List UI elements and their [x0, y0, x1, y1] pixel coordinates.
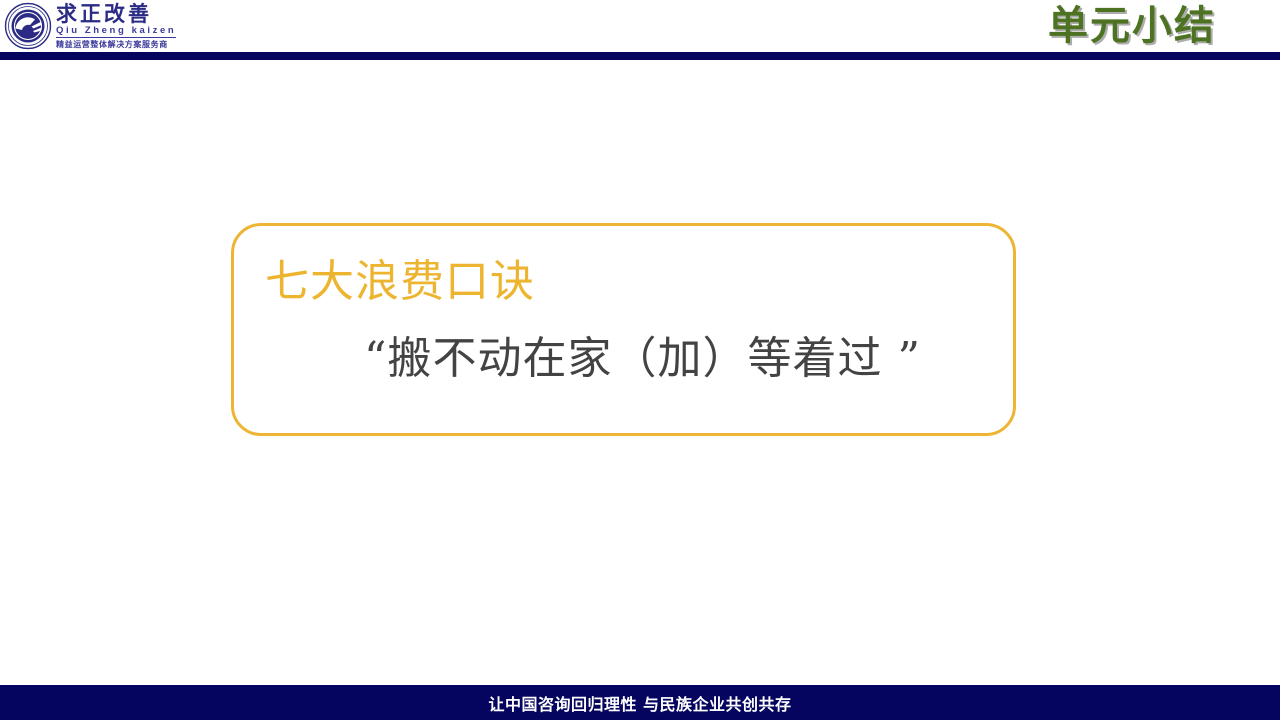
brand-logo[interactable]: 求正改善 Qiu Zheng kaizen 精益运营整体解决方案服务商 — [4, 1, 200, 51]
header-divider — [0, 52, 1280, 60]
footer-band: 让中国咨询回归理性 与民族企业共创共存 — [0, 685, 1280, 720]
mnemonic-card: 七大浪费口诀 “搬不动在家（加）等着过 ” — [231, 223, 1016, 436]
card-heading: 七大浪费口诀 — [265, 258, 535, 306]
footer-slogan: 让中国咨询回归理性 与民族企业共创共存 — [488, 691, 791, 715]
logo-pinyin: Qiu Zheng kaizen — [56, 25, 176, 39]
logo-chinese-name: 求正改善 — [56, 3, 176, 25]
slide-canvas: 求正改善 Qiu Zheng kaizen 精益运营整体解决方案服务商 单元小结… — [0, 0, 1280, 720]
logo-tagline: 精益运营整体解决方案服务商 — [56, 39, 176, 51]
qiu-zheng-kaizen-seal-icon — [4, 2, 52, 50]
page-title: 单元小结 — [1048, 2, 1216, 50]
logo-wordmark: 求正改善 Qiu Zheng kaizen 精益运营整体解决方案服务商 — [56, 1, 176, 52]
card-mnemonic-phrase: “搬不动在家（加）等着过 ” — [364, 334, 921, 385]
